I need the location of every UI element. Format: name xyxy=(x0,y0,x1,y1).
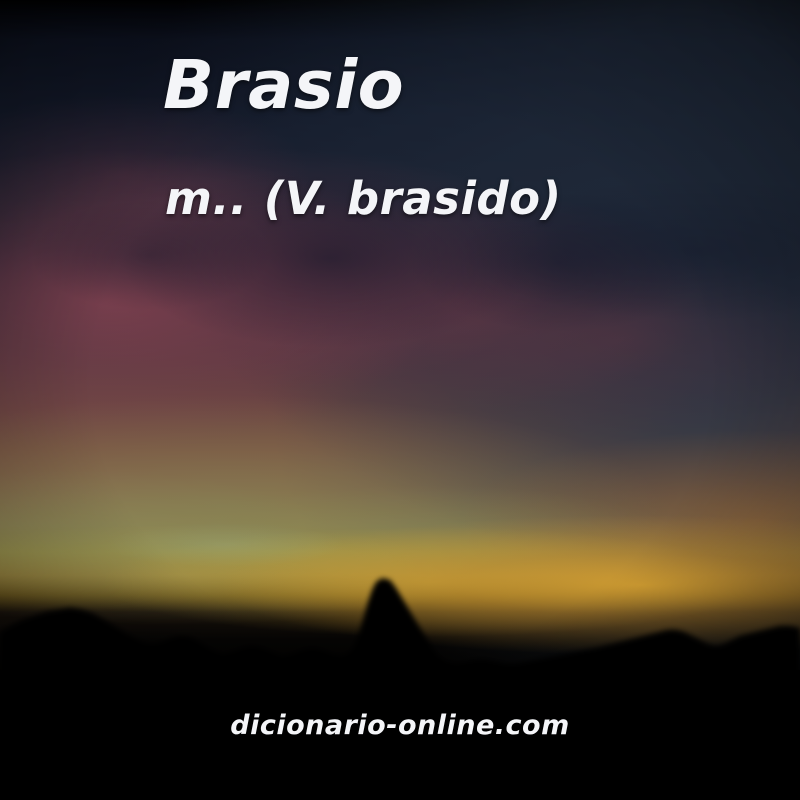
site-watermark-label: dicionario-online.com xyxy=(230,712,569,739)
site-watermark: dicionario-online.com xyxy=(0,712,800,739)
definition-text: m.. (V. brasido) xyxy=(165,176,562,221)
dictionary-definition-card: Brasio m.. (V. brasido) dicionario-onlin… xyxy=(0,0,800,800)
treeline-silhouette xyxy=(0,520,800,800)
headword-title: Brasio xyxy=(163,52,404,119)
